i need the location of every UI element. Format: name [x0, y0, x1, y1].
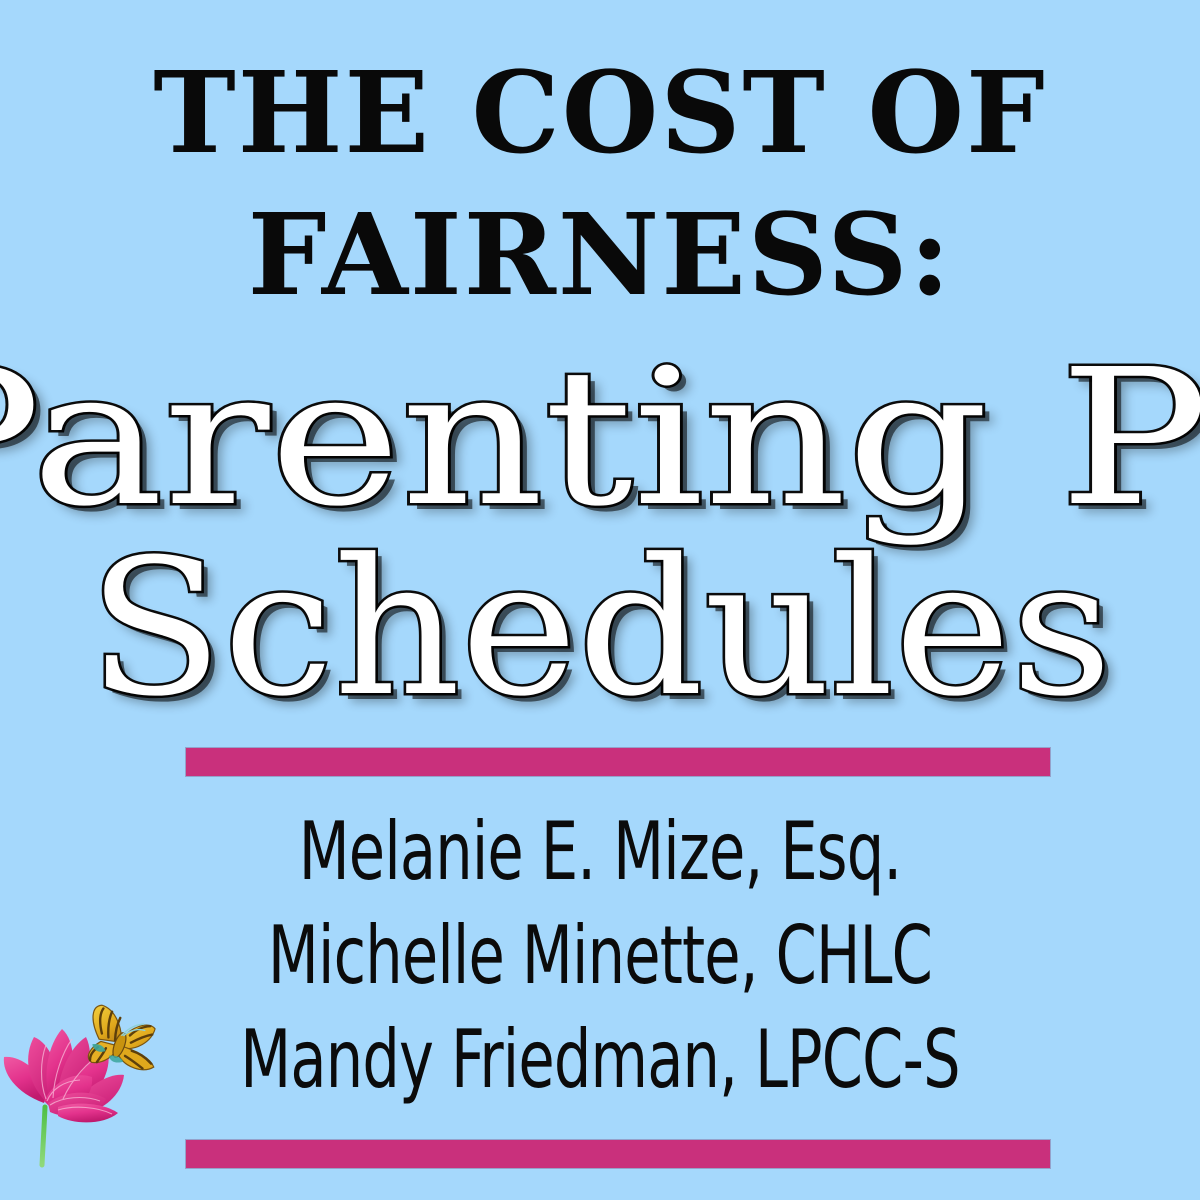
top-divider-rule — [186, 748, 1050, 776]
subtitle-line-2: Schedules — [0, 535, 1200, 723]
presenter-name: Mandy Friedman, LPCC-S — [108, 1008, 1092, 1112]
presenter-name: Michelle Minette, CHLC — [108, 904, 1092, 1008]
headline-line-2: FAIRNESS: — [6, 200, 1194, 312]
subtitle-line-1: Parenting Plan — [0, 345, 1200, 533]
headline-line-1: THE COST OF — [6, 58, 1194, 170]
bottom-divider-rule — [186, 1140, 1050, 1168]
presenter-name: Melanie E. Mize, Esq. — [108, 800, 1092, 904]
flower-stem — [42, 1107, 45, 1165]
presenter-list: Melanie E. Mize, Esq. Michelle Minette, … — [0, 800, 1200, 1112]
presentation-slide: THE COST OF FAIRNESS: Parenting Plan Sch… — [0, 0, 1200, 1200]
